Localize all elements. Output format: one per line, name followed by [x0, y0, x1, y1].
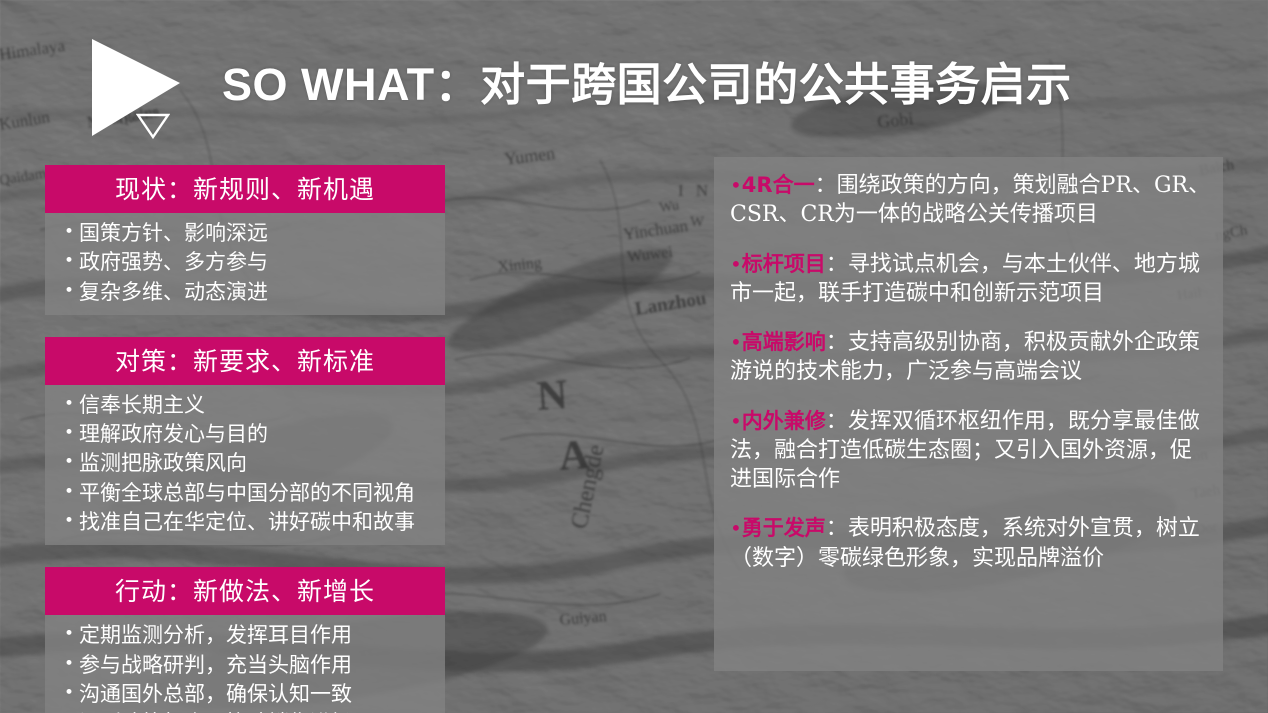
- bullet-icon: •: [59, 681, 79, 706]
- list-item-label: 找准自己在华定位、讲好碳中和故事: [79, 509, 439, 536]
- list-item-label: 信奉长期主义: [79, 392, 439, 419]
- panel-body-countermeasures: • 信奉长期主义 • 理解政府发心与目的 • 监测把脉政策风向 • 平衡全球总部…: [45, 385, 445, 545]
- panel-countermeasures: 对策：新要求、新标准 • 信奉长期主义 • 理解政府发心与目的 • 监测把脉政策…: [45, 337, 445, 545]
- recommendation-key: 4R合一: [742, 173, 815, 197]
- bullet-icon: •: [59, 249, 79, 274]
- panel-header-current-situation: 现状：新规则、新机遇: [45, 165, 445, 213]
- recommendation-item-benchmark-project: •标杆项目：寻找试点机会，与本土伙伴、地方城市一起，联手打造碳中和创新示范项目: [730, 250, 1211, 309]
- list-item-label: 定期监测分析，发挥耳目作用: [79, 622, 439, 649]
- recommendation-key: 勇于发声: [742, 516, 826, 540]
- list-item: • 复杂多维、动态演进: [45, 278, 445, 307]
- bullet-icon: •: [730, 516, 742, 540]
- recommendation-item-internal-external: •内外兼修：发挥双循环枢纽作用，既分享最佳做法，融合打造低碳生态圈；又引入国外资…: [730, 407, 1211, 495]
- bullet-icon: •: [730, 409, 742, 433]
- bullet-icon: •: [59, 652, 79, 677]
- bullet-icon: •: [730, 252, 742, 276]
- left-panel-column: 现状：新规则、新机遇 • 国策方针、影响深远 • 政府强势、多方参与 • 复杂多…: [45, 165, 445, 713]
- list-item-label: 国策方针、影响深远: [79, 220, 439, 247]
- panel-actions: 行动：新做法、新增长 • 定期监测分析，发挥耳目作用 • 参与战略研判，充当头脑…: [45, 567, 445, 713]
- bullet-icon: •: [59, 279, 79, 304]
- list-item: • 监测把脉政策风向: [45, 449, 445, 478]
- panel-header-countermeasures: 对策：新要求、新标准: [45, 337, 445, 385]
- recommendation-key: 高端影响: [742, 330, 826, 354]
- panel-body-current-situation: • 国策方针、影响深远 • 政府强势、多方参与 • 复杂多维、动态演进: [45, 213, 445, 315]
- list-item: • 沟通国外总部，确保认知一致: [45, 680, 445, 709]
- bullet-icon: •: [730, 330, 742, 354]
- panel-current-situation: 现状：新规则、新机遇 • 国策方针、影响深远 • 政府强势、多方参与 • 复杂多…: [45, 165, 445, 315]
- bullet-icon: •: [59, 220, 79, 245]
- bullet-icon: •: [59, 392, 79, 417]
- panel-body-actions: • 定期监测分析，发挥耳目作用 • 参与战略研判，充当头脑作用 • 沟通国外总部…: [45, 615, 445, 713]
- recommendation-item-4r: •4R合一：围绕政策的方向，策划融合PR、GR、CSR、CR为一体的战略公关传播…: [730, 171, 1211, 230]
- list-item: • 理解政府发心与目的: [45, 420, 445, 449]
- recommendation-separator: ：: [826, 409, 848, 434]
- list-item: • 识别政策机会，协助销售进场: [45, 709, 445, 713]
- recommendation-item-speak-up: •勇于发声：表明积极态度，系统对外宣贯，树立（数字）零碳绿色形象，实现品牌溢价: [730, 514, 1211, 573]
- bullet-icon: •: [59, 622, 79, 647]
- bullet-icon: •: [59, 480, 79, 505]
- list-item: • 平衡全球总部与中国分部的不同视角: [45, 479, 445, 508]
- recommendation-separator: ：: [826, 252, 848, 277]
- list-item-label: 监测把脉政策风向: [79, 450, 439, 477]
- recommendation-separator: ：: [826, 516, 848, 541]
- list-item-label: 政府强势、多方参与: [79, 249, 439, 276]
- bullet-icon: •: [730, 173, 742, 197]
- list-item-label: 平衡全球总部与中国分部的不同视角: [79, 480, 439, 507]
- list-item: • 信奉长期主义: [45, 391, 445, 420]
- recommendation-item-high-level-influence: •高端影响：支持高级别协商，积极贡献外企政策游说的技术能力，广泛参与高端会议: [730, 328, 1211, 387]
- page-title: SO WHAT：对于跨国公司的公共事务启示: [222, 48, 1072, 113]
- slide-canvas: Yumen Yinchuan Wuwei Xining Lanzhou I N …: [0, 0, 1268, 713]
- list-item: • 找准自己在华定位、讲好碳中和故事: [45, 508, 445, 537]
- list-item-label: 复杂多维、动态演进: [79, 279, 439, 306]
- recommendation-separator: ：: [826, 330, 848, 355]
- list-item: • 定期监测分析，发挥耳目作用: [45, 621, 445, 650]
- recommendation-key: 内外兼修: [742, 409, 826, 433]
- list-item-label: 理解政府发心与目的: [79, 421, 439, 448]
- panel-header-actions: 行动：新做法、新增长: [45, 567, 445, 615]
- list-item-label: 沟通国外总部，确保认知一致: [79, 681, 439, 708]
- small-triangle-outline-icon: [136, 113, 170, 139]
- list-item: • 政府强势、多方参与: [45, 248, 445, 277]
- recommendation-separator: ：: [815, 173, 837, 198]
- list-item: • 参与战略研判，充当头脑作用: [45, 651, 445, 680]
- recommendations-panel: •4R合一：围绕政策的方向，策划融合PR、GR、CSR、CR为一体的战略公关传播…: [714, 157, 1223, 671]
- bullet-icon: •: [59, 421, 79, 446]
- list-item-label: 参与战略研判，充当头脑作用: [79, 652, 439, 679]
- bullet-icon: •: [59, 450, 79, 475]
- list-item: • 国策方针、影响深远: [45, 219, 445, 248]
- recommendation-key: 标杆项目: [742, 252, 826, 276]
- bullet-icon: •: [59, 509, 79, 534]
